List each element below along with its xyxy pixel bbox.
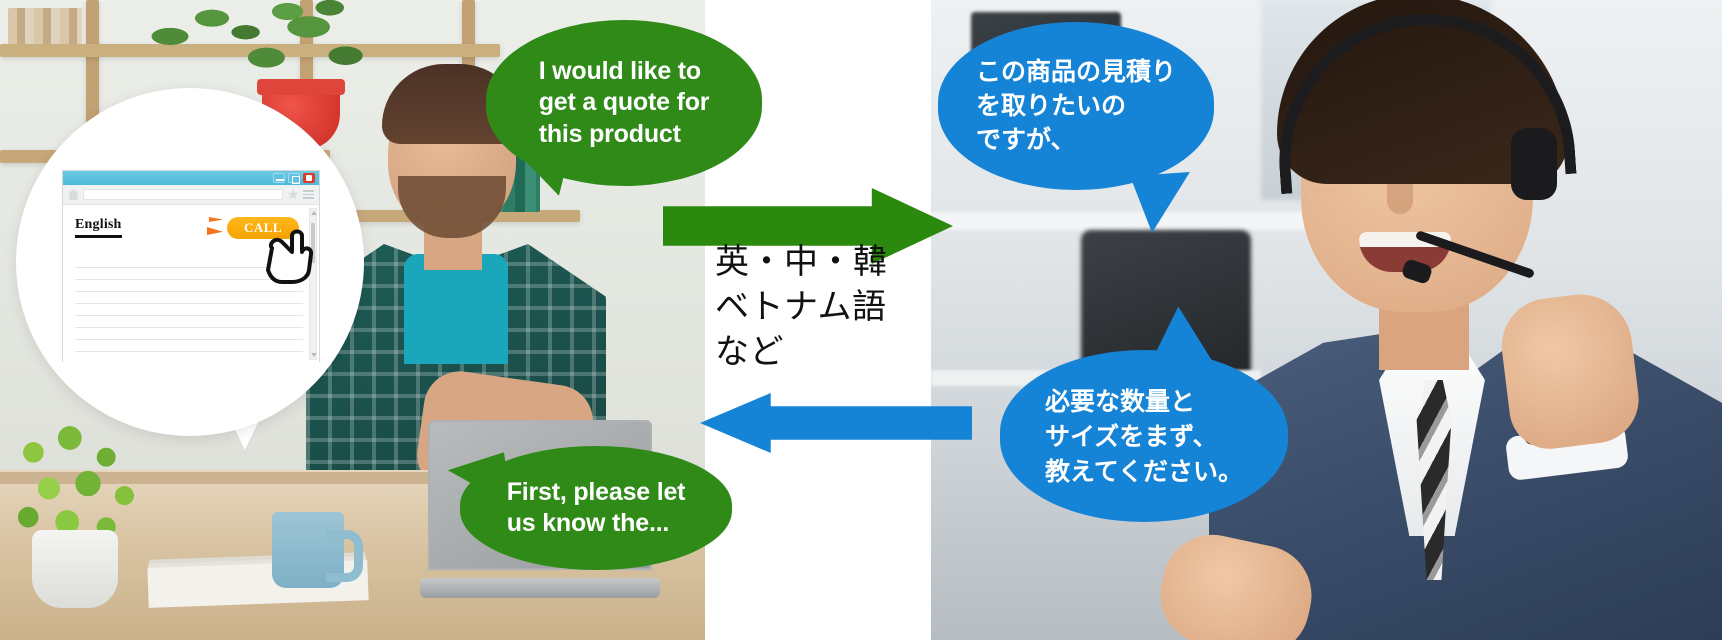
language-line: 英・中・韓 [715,242,888,282]
language-line: など [715,332,784,372]
speech-bubble-english-bottom: First, please let us know the... [460,446,732,570]
maximize-icon[interactable] [288,173,300,183]
menu-icon[interactable] [303,190,314,199]
close-icon[interactable] [303,173,315,183]
bubble-body: First, please let us know the... [460,446,732,570]
bubble-line: 教えてください。 [1045,454,1243,489]
pointing-hand-cursor-icon [262,226,316,284]
bubble-line: I would like to [539,56,710,87]
bubble-line: get a quote for [539,87,710,118]
speech-bubble-japanese-top: この商品の見積り を取りたいの ですが、 [938,22,1214,190]
bubble-line: this product [539,119,710,150]
books-stack [8,8,82,44]
headset-earcup [1511,128,1557,200]
bubble-body: この商品の見積り を取りたいの ですが、 [938,22,1214,190]
bubble-line: us know the... [507,508,686,539]
plant-vase [32,530,118,608]
bubble-line: First, please let [507,477,686,508]
language-line: ベトナム語 [715,287,886,327]
laptop-base [420,578,660,598]
minimize-icon[interactable] [273,173,285,183]
bubble-line: ですが、 [976,123,1176,157]
supported-languages-text: 英・中・韓 ベトナム語 など [715,240,930,375]
scene-root: English CALL 英・中・韓 ベトナム語 など [0,0,1722,640]
desk-plant [10,426,140,606]
call-center-agent [1181,0,1722,640]
scroll-down-icon[interactable] [311,353,317,357]
bubble-line: この商品の見積り [976,55,1176,89]
bubble-line: を取りたいの [976,89,1176,123]
url-input[interactable] [83,189,283,200]
bubble-line: サイズをまず、 [1045,419,1243,454]
call-emphasis-icon [207,216,225,238]
bubble-body: I would like to get a quote for this pro… [486,20,762,186]
plant-foliage [10,426,140,546]
speech-bubble-english-top: I would like to get a quote for this pro… [486,20,762,186]
coffee-mug [272,512,344,588]
scroll-up-icon[interactable] [311,211,317,215]
browser-titlebar [63,171,319,185]
speech-bubble-japanese-bottom: 必要な数量と サイズをまず、 教えてください。 [1000,350,1288,522]
hand [1496,289,1643,454]
home-icon[interactable] [68,189,79,200]
bubble-line: 必要な数量と [1045,384,1243,419]
language-label: English [75,217,122,238]
bookmark-star-icon[interactable] [287,189,299,201]
teal-tshirt [404,254,508,364]
browser-toolbar [63,185,319,205]
bubble-body: 必要な数量と サイズをまず、 教えてください。 [1000,350,1288,522]
bubble-tail [1130,172,1194,234]
